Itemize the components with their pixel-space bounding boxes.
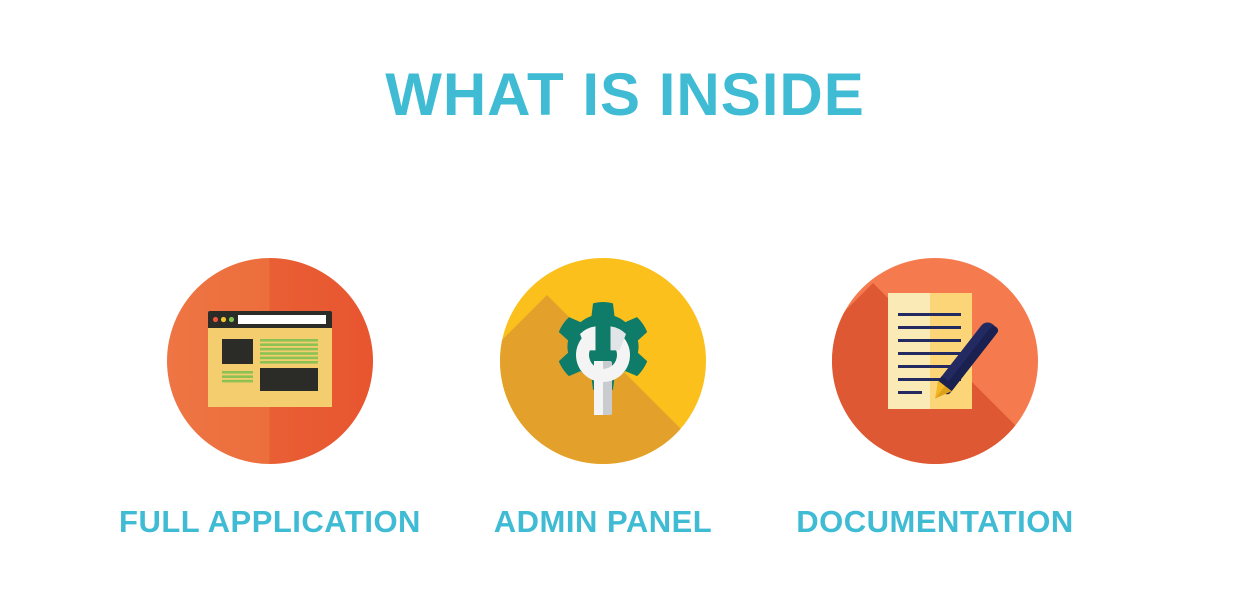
feature-label-full-application: FULL APPLICATION	[100, 504, 440, 540]
slide-root: WHAT IS INSIDE	[0, 0, 1250, 600]
icon-circle-full-application[interactable]	[167, 258, 373, 464]
gear-wrench-icon	[500, 258, 706, 464]
icon-circle-documentation[interactable]	[832, 258, 1038, 464]
feature-item-full-application[interactable]: FULL APPLICATION	[120, 258, 420, 558]
feature-item-documentation[interactable]: DOCUMENTATION	[785, 258, 1085, 558]
document-pen-icon	[832, 258, 1038, 464]
page-title: WHAT IS INSIDE	[0, 62, 1250, 128]
feature-label-admin-panel: ADMIN PANEL	[433, 504, 773, 540]
feature-label-documentation: DOCUMENTATION	[765, 504, 1105, 540]
browser-window-icon	[167, 258, 373, 464]
icon-circle-admin-panel[interactable]	[500, 258, 706, 464]
feature-items-row: FULL APPLICATION	[120, 258, 1130, 558]
feature-item-admin-panel[interactable]: ADMIN PANEL	[453, 258, 753, 558]
